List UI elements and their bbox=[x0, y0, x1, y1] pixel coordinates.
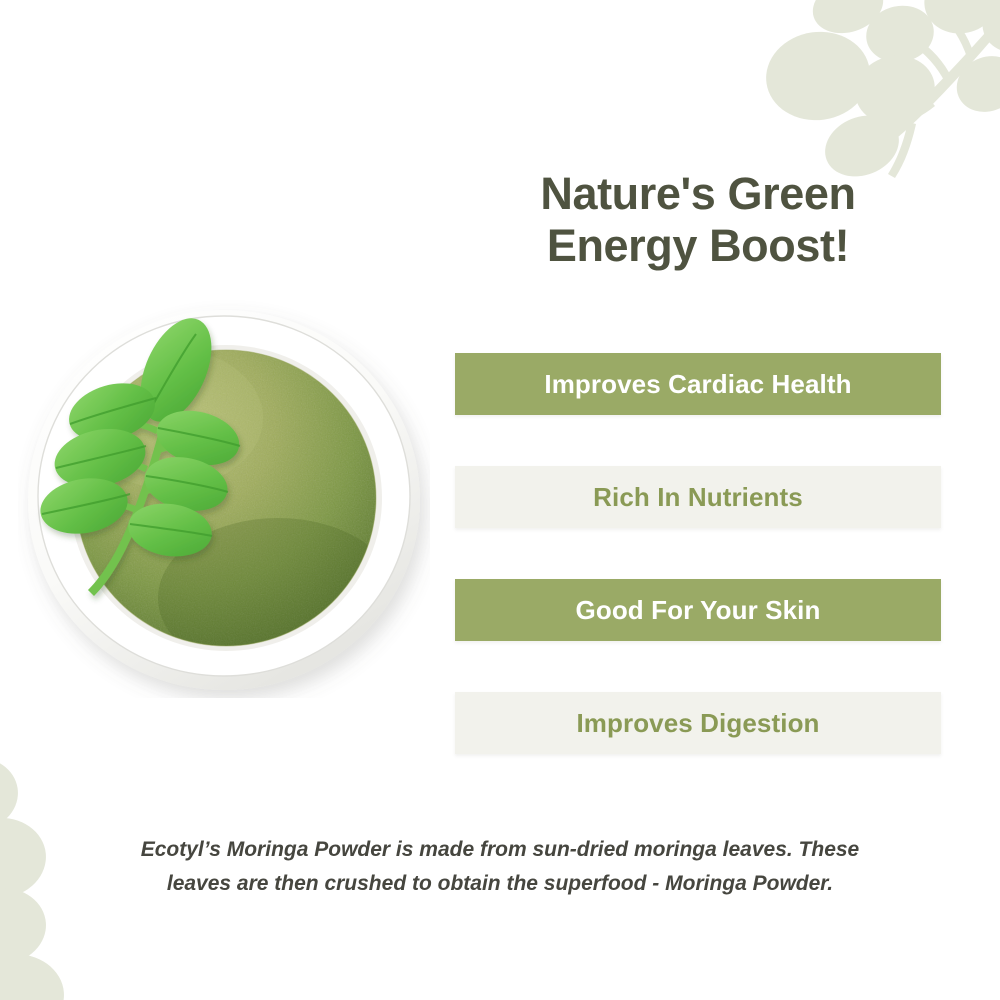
benefit-item-good-for-your-skin[interactable]: Good For Your Skin bbox=[455, 579, 941, 641]
bowl-of-moringa-powder-image bbox=[18, 298, 430, 698]
caption-line-2: leaves are then crushed to obtain the su… bbox=[100, 867, 900, 901]
benefit-label: Rich In Nutrients bbox=[593, 482, 803, 513]
headline-line-2: Energy Boost! bbox=[452, 220, 944, 272]
benefit-label: Improves Cardiac Health bbox=[544, 369, 851, 400]
infographic-canvas: Nature's Green Energy Boost! Improves Ca… bbox=[0, 0, 1000, 1000]
benefit-label: Good For Your Skin bbox=[576, 595, 821, 626]
product-description-caption: Ecotyl’s Moringa Powder is made from sun… bbox=[100, 833, 900, 901]
benefit-item-cardiac-health[interactable]: Improves Cardiac Health bbox=[455, 353, 941, 415]
headline-line-1: Nature's Green bbox=[540, 168, 855, 219]
page-title: Nature's Green Energy Boost! bbox=[452, 168, 944, 272]
benefit-item-improves-digestion[interactable]: Improves Digestion bbox=[455, 692, 941, 754]
benefit-item-rich-in-nutrients[interactable]: Rich In Nutrients bbox=[455, 466, 941, 528]
benefit-label: Improves Digestion bbox=[576, 708, 819, 739]
benefits-list: Improves Cardiac Health Rich In Nutrient… bbox=[455, 353, 941, 754]
caption-line-1: Ecotyl’s Moringa Powder is made from sun… bbox=[100, 833, 900, 867]
